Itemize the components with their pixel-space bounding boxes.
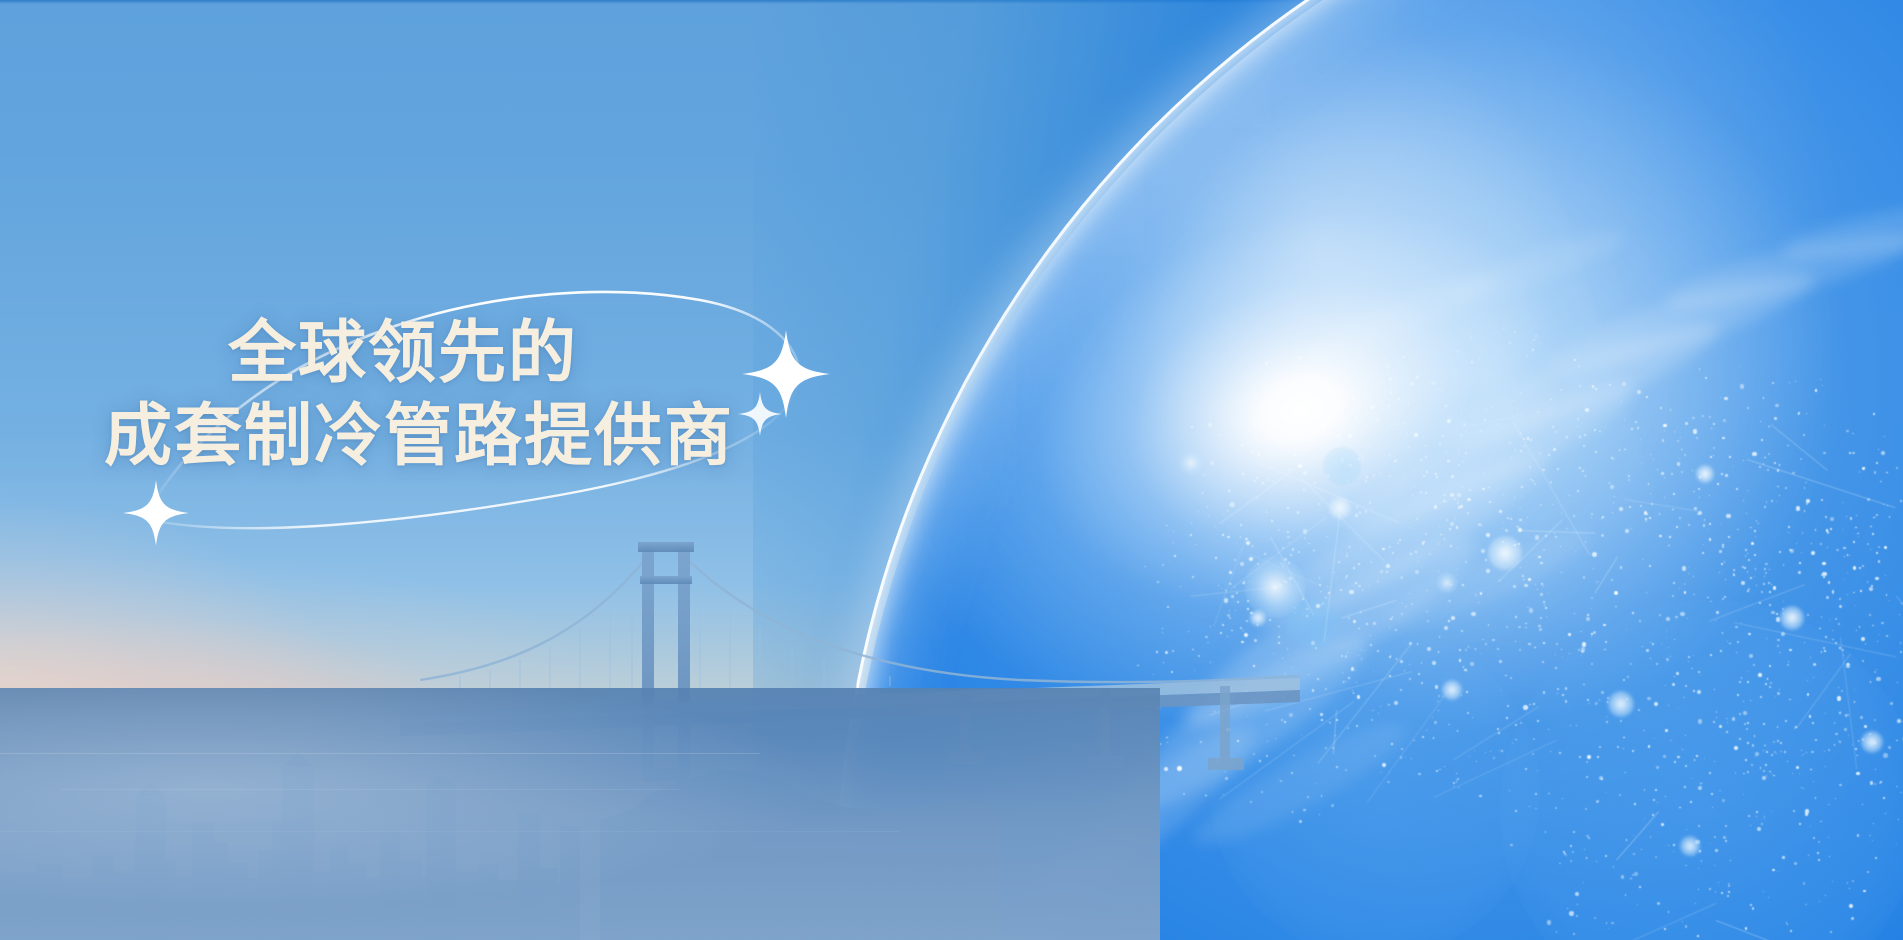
- headline-line-1: 全球领先的: [228, 317, 578, 389]
- headline-line-2: 成套制冷管路提供商: [104, 400, 734, 472]
- hero-banner: 全球领先的 成套制冷管路提供商: [0, 0, 1903, 940]
- headline-block: 全球领先的 成套制冷管路提供商: [0, 0, 1903, 940]
